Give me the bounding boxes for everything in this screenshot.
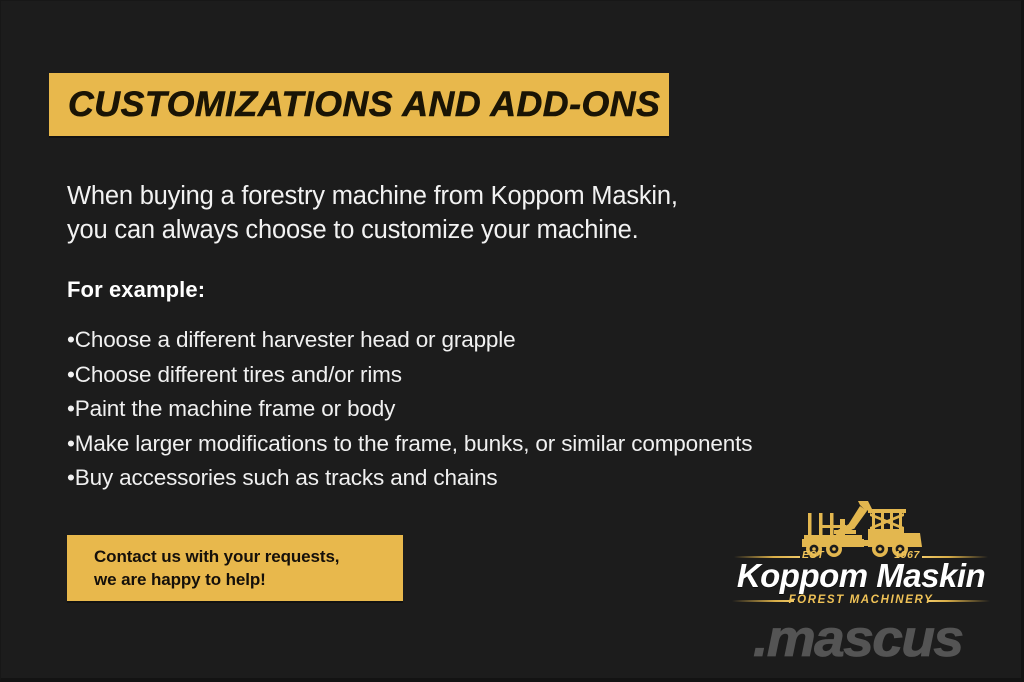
intro-line-2: you can always choose to customize your … bbox=[67, 213, 827, 247]
list-item: •Choose a different harvester head or gr… bbox=[67, 323, 847, 358]
intro-line-1: When buying a forestry machine from Kopp… bbox=[67, 179, 827, 213]
intro-paragraph: When buying a forestry machine from Kopp… bbox=[67, 179, 827, 247]
bullet-icon: • bbox=[67, 364, 75, 387]
promo-slide: CUSTOMIZATIONS AND ADD-ONS When buying a… bbox=[0, 0, 1024, 682]
page-title: CUSTOMIZATIONS AND ADD-ONS bbox=[68, 87, 660, 122]
for-example-heading: For example: bbox=[67, 277, 205, 303]
contact-line-2: we are happy to help! bbox=[94, 568, 403, 591]
divider-right bbox=[928, 600, 990, 602]
bullet-icon: • bbox=[67, 329, 75, 352]
logo-wordmark: Koppom Maskin bbox=[730, 559, 992, 593]
list-item: •Paint the machine frame or body bbox=[67, 392, 847, 427]
list-item: •Make larger modifications to the frame,… bbox=[67, 427, 847, 462]
mascus-watermark: .mascus bbox=[753, 613, 962, 665]
contact-line-1: Contact us with your requests, bbox=[94, 545, 403, 568]
list-item: •Buy accessories such as tracks and chai… bbox=[67, 461, 847, 496]
list-item-label: Buy accessories such as tracks and chain… bbox=[75, 465, 498, 490]
example-list: •Choose a different harvester head or gr… bbox=[67, 323, 847, 496]
bullet-icon: • bbox=[67, 398, 75, 421]
tagline-row: FOREST MACHINERY bbox=[730, 594, 992, 607]
list-item: •Choose different tires and/or rims bbox=[67, 358, 847, 393]
list-item-label: Choose different tires and/or rims bbox=[75, 362, 402, 387]
koppom-maskin-logo: EST 1967 Koppom Maskin FOREST MACHINERY bbox=[730, 499, 992, 609]
bullet-icon: • bbox=[67, 467, 75, 490]
title-banner: CUSTOMIZATIONS AND ADD-ONS bbox=[49, 73, 669, 136]
contact-cta-box[interactable]: Contact us with your requests, we are ha… bbox=[67, 535, 403, 601]
list-item-label: Make larger modifications to the frame, … bbox=[75, 431, 753, 456]
list-item-label: Paint the machine frame or body bbox=[75, 396, 396, 421]
bullet-icon: • bbox=[67, 433, 75, 456]
list-item-label: Choose a different harvester head or gra… bbox=[75, 327, 516, 352]
